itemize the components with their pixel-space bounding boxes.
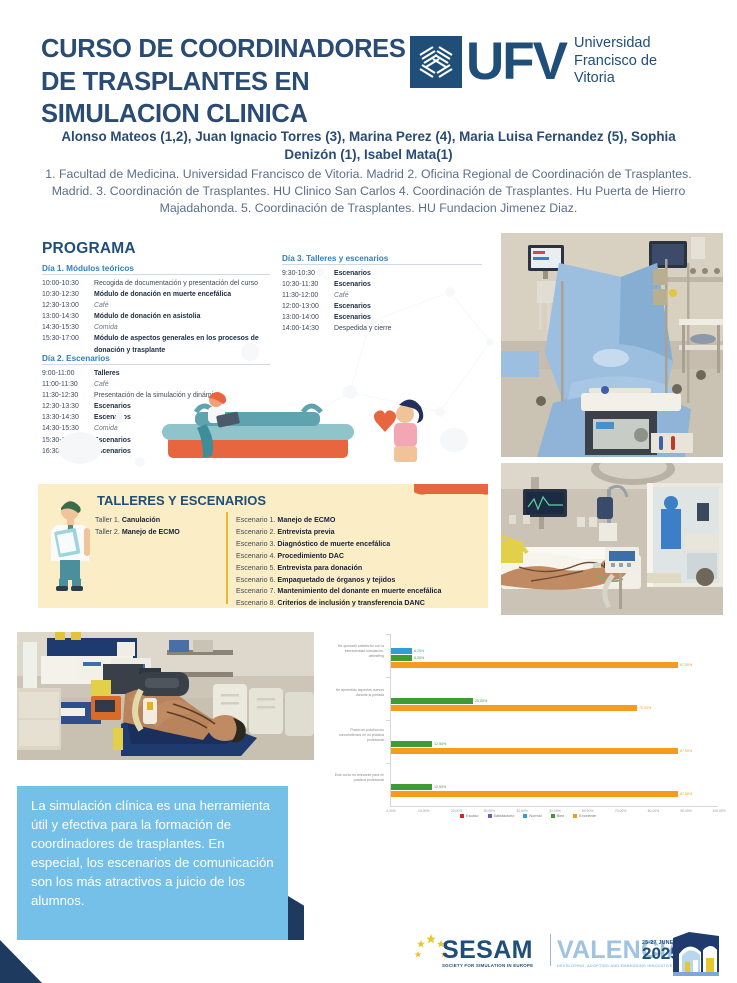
author-list: Alonso Mateos (1,2), Juan Ignacio Torres…	[41, 128, 696, 164]
row-time: 11:30-12:00	[282, 290, 334, 301]
callout-shadow-decoration	[288, 896, 304, 940]
ufv-subtitle-line-3: Vitoria	[574, 70, 657, 88]
legend-item-satisfactorio: Satisfactorio	[488, 814, 515, 818]
x-tick-label: 40,00%	[508, 809, 536, 813]
escenario-label: Escenario 2.	[236, 528, 275, 536]
ufv-emblem-icon	[410, 36, 462, 88]
row-desc: Comida	[94, 322, 270, 333]
escenario-item: Escenario 8. Criterios de inclusión y tr…	[236, 598, 486, 608]
taller-item: Taller 1. Canulación	[95, 515, 255, 527]
x-tick-label: 30,00%	[475, 809, 503, 813]
bar-value: 87,50%	[680, 662, 692, 668]
ufv-subtitle-line-2: Francisco de	[574, 53, 657, 71]
conclusion-callout: La simulación clínica es una herramienta…	[17, 786, 288, 940]
escenario-name: Procedimiento DAC	[277, 552, 344, 560]
x-tick-label: 10,00%	[410, 809, 438, 813]
legend-item-normal: Normal	[523, 814, 541, 818]
row-time: 14:00-14:30	[282, 323, 334, 334]
category-label: He quedado satisfecho con la interactivi…	[332, 644, 384, 659]
category-label: Este curso es relevante para mi práctica…	[332, 773, 384, 783]
category-label: Puedo en práctica los conocimientos en m…	[332, 728, 384, 743]
legend-swatch	[460, 814, 464, 818]
affiliation-list: 1. Facultad de Medicina. Universidad Fra…	[30, 166, 707, 217]
chart-plot-area: He quedado satisfecho con la interactivi…	[330, 628, 726, 836]
photo-simulation-draped-patient	[501, 233, 723, 457]
logo-divider	[550, 934, 551, 966]
bar-excelente-g4	[391, 791, 678, 797]
bar-bien-g3	[391, 741, 432, 747]
taller-name: Canulación	[122, 516, 160, 524]
chart-legend: Escaso Satisfactorio Normal Bien Excelen…	[330, 814, 726, 818]
row-desc: Café	[94, 300, 270, 311]
row-time: 12:30-13:00	[42, 300, 94, 311]
schedule-row: 14:30-15:30Comida	[42, 322, 270, 333]
talleres-title: TALLERES Y ESCENARIOS	[97, 493, 266, 508]
legend-swatch	[488, 814, 492, 818]
escenario-item: Escenario 5. Entrevista para donación	[236, 563, 486, 575]
sesam-valencia-logo: SESAM SOCIETY FOR SIMULATION IN EUROPE V…	[415, 930, 715, 978]
legend-swatch	[573, 814, 577, 818]
schedule-row: 10:30-11:30Escenarios	[282, 279, 482, 290]
x-axis-line	[390, 806, 718, 807]
escenario-item: Escenario 4. Procedimiento DAC	[236, 551, 486, 563]
schedule-row: 11:30-12:00Café	[282, 290, 482, 301]
escenario-name: Entrevista previa	[277, 528, 334, 536]
x-tick-label: 80,00%	[639, 809, 667, 813]
legend-item-excelente: Excelente	[573, 814, 596, 818]
bar-value: 12,50%	[434, 741, 446, 747]
poster-header: CURSO DE COORDINADORES DE TRASPLANTES EN…	[0, 0, 737, 232]
row-time: 13:00-14:30	[42, 311, 94, 322]
escenario-label: Escenario 1.	[236, 516, 275, 524]
y-tick	[386, 763, 390, 764]
escenario-name: Empaquetado de órganos y tejidos	[277, 576, 395, 584]
schedule-row: 9:00-11:00Talleres	[42, 368, 270, 379]
bar-value: 75,00%	[639, 705, 651, 711]
poster-canvas: CURSO DE COORDINADORES DE TRASPLANTES EN…	[0, 0, 737, 983]
escenario-name: Criterios de inclusión y transferencia D…	[277, 599, 424, 607]
escenario-item: Escenario 3. Diagnóstico de muerte encef…	[236, 539, 486, 551]
corner-triangle-decoration	[0, 940, 42, 983]
row-time: 10:30-12:30	[42, 289, 94, 300]
teamwork-illustration	[20, 388, 496, 484]
programa-day-3: Día 3. Talleres y escenarios 9:30-10:30E…	[282, 254, 482, 335]
escenario-item: Escenario 6. Empaquetado de órganos y te…	[236, 575, 486, 587]
bar-bien-g1	[391, 655, 412, 661]
decorative-bowl-shape	[414, 484, 488, 502]
title-line-2: DE TRASPLANTES EN	[41, 66, 411, 99]
schedule-row: 12:30-13:00Café	[42, 300, 270, 311]
schedule-row: 15:30-17:00Módulo de aspectos generales …	[42, 333, 270, 355]
title-line-3: SIMULACION CLINICA	[41, 98, 411, 131]
title-line-1: CURSO DE COORDINADORES	[41, 33, 411, 66]
row-time: 13:00-14:00	[282, 312, 334, 323]
escenario-name: Entrevista para donación	[277, 564, 362, 572]
taller-name: Manejo de ECMO	[122, 528, 180, 536]
row-time: 9:30-10:30	[282, 268, 334, 279]
sesam-wordmark: SESAM	[442, 936, 533, 965]
bar-value: 87,50%	[680, 748, 692, 754]
legend-label: Normal	[529, 814, 541, 818]
bar-bien-g4	[391, 784, 432, 790]
programa-day-1: Día 1. Módulos teóricos 10:00-10:30Recog…	[42, 264, 270, 356]
taller-item: Taller 2. Manejo de ECMO	[95, 527, 255, 539]
escenario-name: Diagnóstico de muerte encefálica	[277, 540, 390, 548]
bar-value: 87,50%	[680, 791, 692, 797]
escenario-label: Escenario 6.	[236, 576, 275, 584]
doctor-illustration	[44, 498, 96, 594]
illustration-band	[20, 388, 496, 484]
day-heading: Día 2. Escenarios	[42, 354, 270, 365]
schedule-row: 12:00-13:00Escenarios	[282, 301, 482, 312]
row-time: 10:30-11:30	[282, 279, 334, 290]
bar-value: 12,50%	[434, 784, 446, 790]
escenario-name: Mantenimiento del donante en muerte ence…	[277, 587, 441, 595]
legend-item-escaso: Escaso	[460, 814, 478, 818]
escenario-label: Escenario 7.	[236, 587, 275, 595]
legend-swatch	[551, 814, 555, 818]
valencia-skyline-icon	[673, 932, 719, 976]
schedule-row: 10:30-12:30Módulo de donación en muerte …	[42, 289, 270, 300]
schedule-row: 9:30-10:30Escenarios	[282, 268, 482, 279]
bar-normal-g1	[391, 648, 412, 654]
row-time: 9:00-11:00	[42, 368, 94, 379]
y-tick	[386, 677, 390, 678]
photo-simulation-manikin-training	[17, 632, 314, 760]
x-tick-label: 90,00%	[672, 809, 700, 813]
legend-label: Escaso	[466, 814, 478, 818]
day-heading: Día 1. Módulos teóricos	[42, 264, 270, 275]
ufv-subtitle: Universidad Francisco de Vitoria	[574, 35, 657, 88]
photo-simulation-manikin-icu	[501, 463, 723, 615]
ufv-logo: UFV Universidad Francisco de Vitoria	[410, 35, 657, 88]
row-time: 15:30-17:00	[42, 333, 94, 355]
escenario-name: Manejo de ECMO	[277, 516, 335, 524]
row-desc: Módulo de donación en asistolia	[94, 311, 270, 322]
row-desc: Recogida de documentación y presentación…	[94, 278, 270, 289]
schedule-row: 10:00-10:30Recogida de documentación y p…	[42, 278, 270, 289]
x-tick-label: 50,00%	[541, 809, 569, 813]
page-title: CURSO DE COORDINADORES DE TRASPLANTES EN…	[41, 33, 411, 131]
sesam-tagline: SOCIETY FOR SIMULATION IN EUROPE	[442, 963, 533, 968]
bar-bien-g2	[391, 698, 473, 704]
row-time: 12:00-13:00	[282, 301, 334, 312]
schedule-row: 13:00-14:00Escenarios	[282, 312, 482, 323]
row-time: 10:00-10:30	[42, 278, 94, 289]
bar-excelente-g2	[391, 705, 637, 711]
escenario-item: Escenario 2. Entrevista previa	[236, 527, 486, 539]
escenarios-list: Escenario 1. Manejo de ECMO Escenario 2.…	[236, 515, 486, 608]
x-tick-label: 0,00%	[377, 809, 405, 813]
x-tick-label: 20,00%	[443, 809, 471, 813]
escenario-label: Escenario 5.	[236, 564, 275, 572]
schedule-row: 13:00-14:30Módulo de donación en asistol…	[42, 311, 270, 322]
row-desc: Talleres	[94, 368, 270, 379]
row-desc: Despedida y cierre	[334, 323, 482, 334]
row-desc: Escenarios	[334, 312, 482, 323]
talleres-panel: TALLERES Y ESCENARIOS Taller 1. Canulaci…	[38, 484, 488, 608]
legend-swatch	[523, 814, 527, 818]
ufv-wordmark: UFV	[466, 36, 566, 88]
day-heading: Día 3. Talleres y escenarios	[282, 254, 482, 265]
x-tick-label: 100,00%	[705, 809, 733, 813]
row-desc: Café	[334, 290, 482, 301]
bar-value: 6,25%	[414, 655, 424, 661]
row-desc: Módulo de aspectos generales en los proc…	[94, 333, 270, 355]
ufv-subtitle-line-1: Universidad	[574, 35, 657, 53]
bar-value: 6,25%	[414, 648, 424, 654]
taller-label: Taller 2.	[95, 528, 120, 536]
row-desc: Módulo de donación en muerte encefálica	[94, 289, 270, 300]
programa-title: PROGRAMA	[42, 240, 136, 258]
legend-label: Excelente	[579, 814, 596, 818]
escenario-label: Escenario 4.	[236, 552, 275, 560]
bar-value: 25,00%	[475, 698, 487, 704]
bar-excelente-g3	[391, 748, 678, 754]
escenario-item: Escenario 1. Manejo de ECMO	[236, 515, 486, 527]
satisfaction-bar-chart: He quedado satisfecho con la interactivi…	[330, 628, 726, 836]
legend-item-bien: Bien	[551, 814, 565, 818]
legend-label: Bien	[557, 814, 565, 818]
escenario-label: Escenario 3.	[236, 540, 275, 548]
talleres-list: Taller 1. Canulación Taller 2. Manejo de…	[95, 515, 255, 539]
x-tick-label: 70,00%	[607, 809, 635, 813]
schedule-row: 14:00-14:30Despedida y cierre	[282, 323, 482, 334]
taller-label: Taller 1.	[95, 516, 120, 524]
row-desc: Escenarios	[334, 301, 482, 312]
escenario-item: Escenario 7. Mantenimiento del donante e…	[236, 586, 486, 598]
category-label: He aprendido aspectos nuevos durante la …	[332, 688, 384, 698]
escenario-label: Escenario 8.	[236, 599, 275, 607]
legend-label: Satisfactorio	[494, 814, 515, 818]
row-desc: Escenarios	[334, 268, 482, 279]
x-tick-label: 60,00%	[574, 809, 602, 813]
row-time: 14:30-15:30	[42, 322, 94, 333]
y-tick	[386, 634, 390, 635]
y-tick	[386, 720, 390, 721]
bar-excelente-g1	[391, 662, 678, 668]
row-desc: Escenarios	[334, 279, 482, 290]
